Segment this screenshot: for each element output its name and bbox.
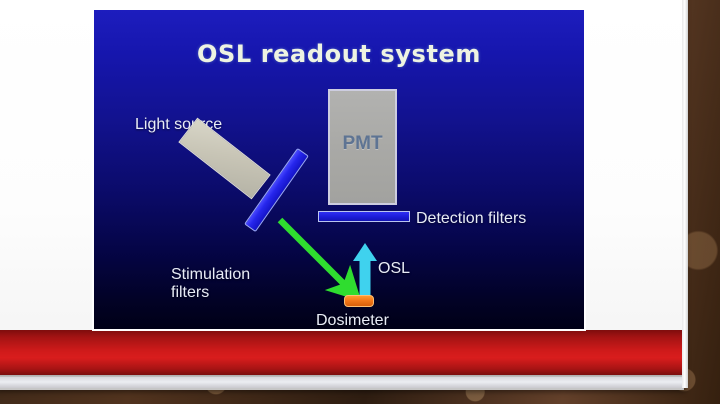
presentation-slide: OSL readout system Light source Stimulat… <box>92 8 586 331</box>
dosimeter-chip <box>344 295 374 307</box>
screenshot-root: OSL readout system Light source Stimulat… <box>0 0 720 404</box>
dosimeter-label: Dosimeter <box>316 312 389 330</box>
stimulation-filters-label: Stimulation filters <box>171 266 250 302</box>
page-edge-highlight <box>682 0 688 388</box>
gray-footer-strip <box>0 377 682 388</box>
osl-label: OSL <box>378 260 410 278</box>
slide-title: OSL readout system <box>94 40 584 68</box>
red-footer-band <box>0 330 682 375</box>
pmt-label: PMT <box>330 133 395 155</box>
detection-filters-label: Detection filters <box>416 210 526 228</box>
osl-emission-arrow <box>352 242 378 302</box>
light-source-slab <box>178 118 270 200</box>
pmt-box: PMT <box>328 89 397 205</box>
